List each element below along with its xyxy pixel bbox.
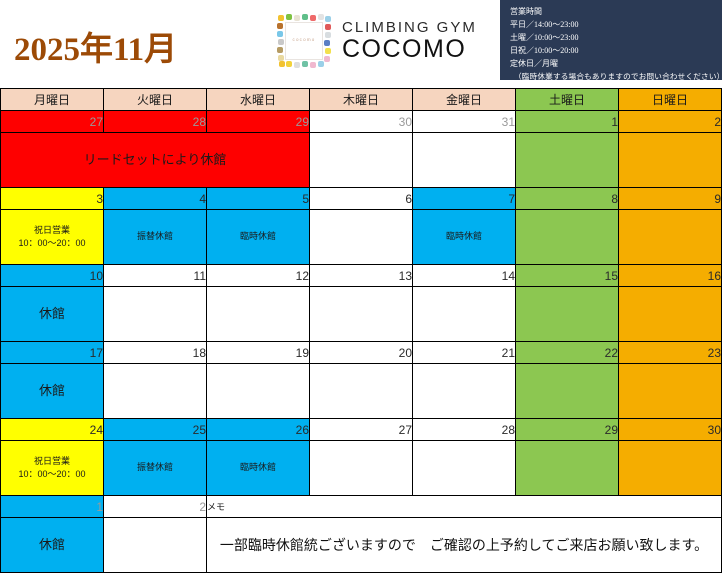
dow-thursday: 木曜日 bbox=[310, 89, 413, 111]
day-number-cell[interactable]: 1 bbox=[516, 111, 619, 133]
day-empty-cell[interactable] bbox=[207, 364, 310, 419]
day-number-cell[interactable]: 28 bbox=[413, 419, 516, 441]
day-number-cell[interactable]: 6 bbox=[310, 188, 413, 210]
calendar-week-notes: 祝日営業10：00～20：00振替休館臨時休館 bbox=[1, 441, 722, 496]
day-number-cell[interactable]: 10 bbox=[1, 265, 104, 287]
day-empty-cell[interactable] bbox=[516, 133, 619, 188]
calendar-week-numbers: 272829303112 bbox=[1, 111, 722, 133]
day-number-cell[interactable]: 30 bbox=[310, 111, 413, 133]
day-number-cell[interactable]: 5 bbox=[207, 188, 310, 210]
day-number-cell[interactable]: 2 bbox=[104, 496, 207, 518]
brand-name: COCOMO bbox=[342, 37, 477, 62]
day-empty-cell[interactable] bbox=[310, 210, 413, 265]
page-title: 2025年11月 bbox=[14, 22, 177, 70]
hours-weekday: 平日／14:00～23:00 bbox=[510, 19, 714, 32]
brand-logo: cocomo CLIMBING GYM COCOMO bbox=[276, 13, 477, 69]
dow-friday: 金曜日 bbox=[413, 89, 516, 111]
logo-wordmark: cocomo bbox=[276, 37, 332, 42]
day-number-cell[interactable]: 30 bbox=[619, 419, 722, 441]
hours-title: 営業時間 bbox=[510, 6, 714, 19]
day-empty-cell[interactable] bbox=[516, 210, 619, 265]
day-number-cell[interactable]: 25 bbox=[104, 419, 207, 441]
calendar-week-numbers: 10111213141516 bbox=[1, 265, 722, 287]
calendar-last-week-numbers: 12メモ bbox=[1, 496, 722, 518]
day-empty-cell[interactable] bbox=[516, 364, 619, 419]
day-empty-cell[interactable] bbox=[619, 441, 722, 496]
day-number-cell[interactable]: 9 bbox=[619, 188, 722, 210]
dow-tuesday: 火曜日 bbox=[104, 89, 207, 111]
day-number-cell[interactable]: 18 bbox=[104, 342, 207, 364]
day-empty-cell[interactable] bbox=[413, 364, 516, 419]
day-empty-cell[interactable] bbox=[619, 210, 722, 265]
day-empty-cell[interactable] bbox=[104, 287, 207, 342]
day-number-cell[interactable]: 12 bbox=[207, 265, 310, 287]
day-empty-cell[interactable] bbox=[413, 441, 516, 496]
day-number-cell[interactable]: 19 bbox=[207, 342, 310, 364]
day-empty-cell[interactable] bbox=[104, 518, 207, 573]
calendar-body: 272829303112リードセットにより休館3456789祝日営業10：00～… bbox=[1, 111, 722, 573]
day-number-cell[interactable]: 1 bbox=[1, 496, 104, 518]
memo-body: 一部臨時休館統ございますので ご確認の上予約してご来店お願い致します。 bbox=[207, 518, 722, 573]
hours-sunday-holiday: 日祝／10:00～20:00 bbox=[510, 45, 714, 58]
day-note-cell[interactable]: 休館 bbox=[1, 364, 104, 419]
calendar-last-week-notes: 休館一部臨時休館統ございますので ご確認の上予約してご来店お願い致します。 bbox=[1, 518, 722, 573]
day-number-cell[interactable]: 23 bbox=[619, 342, 722, 364]
hours-regular-closed: 定休日／月曜 bbox=[510, 58, 714, 71]
day-note-cell[interactable]: 臨時休館 bbox=[413, 210, 516, 265]
day-number-cell[interactable]: 14 bbox=[413, 265, 516, 287]
day-empty-cell[interactable] bbox=[619, 364, 722, 419]
day-number-cell[interactable]: 31 bbox=[413, 111, 516, 133]
day-empty-cell[interactable] bbox=[310, 441, 413, 496]
business-hours-box: 営業時間 平日／14:00～23:00 土曜／10:00～23:00 日祝／10… bbox=[500, 0, 722, 80]
day-number-cell[interactable]: 2 bbox=[619, 111, 722, 133]
dow-wednesday: 水曜日 bbox=[207, 89, 310, 111]
day-number-cell[interactable]: 29 bbox=[207, 111, 310, 133]
memo-label: メモ bbox=[207, 496, 722, 518]
day-number-cell[interactable]: 20 bbox=[310, 342, 413, 364]
calendar-page: 2025年11月 bbox=[0, 0, 722, 557]
day-empty-cell[interactable] bbox=[619, 287, 722, 342]
calendar-week-notes: リードセットにより休館 bbox=[1, 133, 722, 188]
day-number-cell[interactable]: 15 bbox=[516, 265, 619, 287]
calendar-header-row: 月曜日 火曜日 水曜日 木曜日 金曜日 土曜日 日曜日 bbox=[1, 89, 722, 111]
day-note-cell[interactable]: リードセットにより休館 bbox=[1, 133, 310, 188]
day-number-cell[interactable]: 22 bbox=[516, 342, 619, 364]
day-number-cell[interactable]: 11 bbox=[104, 265, 207, 287]
calendar-week-notes: 祝日営業10：00～20：00振替休館臨時休館臨時休館 bbox=[1, 210, 722, 265]
dow-monday: 月曜日 bbox=[1, 89, 104, 111]
day-note-cell[interactable]: 臨時休館 bbox=[207, 441, 310, 496]
day-number-cell[interactable]: 24 bbox=[1, 419, 104, 441]
day-note-cell[interactable]: 振替休館 bbox=[104, 441, 207, 496]
hours-saturday: 土曜／10:00～23:00 bbox=[510, 32, 714, 45]
day-note-cell[interactable]: 祝日営業10：00～20：00 bbox=[1, 441, 104, 496]
calendar-week-numbers: 3456789 bbox=[1, 188, 722, 210]
day-empty-cell[interactable] bbox=[310, 287, 413, 342]
page-header: 2025年11月 bbox=[0, 0, 722, 88]
brand-text: CLIMBING GYM COCOMO bbox=[342, 20, 477, 62]
day-empty-cell[interactable] bbox=[310, 133, 413, 188]
day-empty-cell[interactable] bbox=[104, 364, 207, 419]
day-number-cell[interactable]: 27 bbox=[1, 111, 104, 133]
cocomo-logo-icon: cocomo bbox=[276, 13, 332, 69]
day-number-cell[interactable]: 16 bbox=[619, 265, 722, 287]
day-number-cell[interactable]: 17 bbox=[1, 342, 104, 364]
day-empty-cell[interactable] bbox=[413, 287, 516, 342]
day-empty-cell[interactable] bbox=[207, 287, 310, 342]
day-number-cell[interactable]: 7 bbox=[413, 188, 516, 210]
day-number-cell[interactable]: 13 bbox=[310, 265, 413, 287]
calendar-week-notes: 休館 bbox=[1, 364, 722, 419]
day-number-cell[interactable]: 27 bbox=[310, 419, 413, 441]
brand-tagline: CLIMBING GYM bbox=[342, 20, 477, 35]
day-number-cell[interactable]: 8 bbox=[516, 188, 619, 210]
day-number-cell[interactable]: 4 bbox=[104, 188, 207, 210]
day-note-cell[interactable]: 休館 bbox=[1, 518, 104, 573]
day-number-cell[interactable]: 26 bbox=[207, 419, 310, 441]
hours-note: （臨時休業する場合もありますのでお問い合わせください） bbox=[510, 71, 714, 83]
day-note-cell[interactable]: 振替休館 bbox=[104, 210, 207, 265]
day-number-cell[interactable]: 21 bbox=[413, 342, 516, 364]
day-empty-cell[interactable] bbox=[413, 133, 516, 188]
day-number-cell[interactable]: 3 bbox=[1, 188, 104, 210]
day-empty-cell[interactable] bbox=[516, 287, 619, 342]
day-note-cell[interactable]: 祝日営業10：00～20：00 bbox=[1, 210, 104, 265]
calendar-week-numbers: 17181920212223 bbox=[1, 342, 722, 364]
dow-saturday: 土曜日 bbox=[516, 89, 619, 111]
dow-sunday: 日曜日 bbox=[619, 89, 722, 111]
day-empty-cell[interactable] bbox=[516, 441, 619, 496]
day-number-cell[interactable]: 28 bbox=[104, 111, 207, 133]
day-empty-cell[interactable] bbox=[310, 364, 413, 419]
calendar-week-notes: 休館 bbox=[1, 287, 722, 342]
calendar-week-numbers: 24252627282930 bbox=[1, 419, 722, 441]
day-note-cell[interactable]: 臨時休館 bbox=[207, 210, 310, 265]
day-number-cell[interactable]: 29 bbox=[516, 419, 619, 441]
day-empty-cell[interactable] bbox=[619, 133, 722, 188]
day-note-cell[interactable]: 休館 bbox=[1, 287, 104, 342]
month-calendar: 月曜日 火曜日 水曜日 木曜日 金曜日 土曜日 日曜日 272829303112… bbox=[0, 88, 722, 573]
